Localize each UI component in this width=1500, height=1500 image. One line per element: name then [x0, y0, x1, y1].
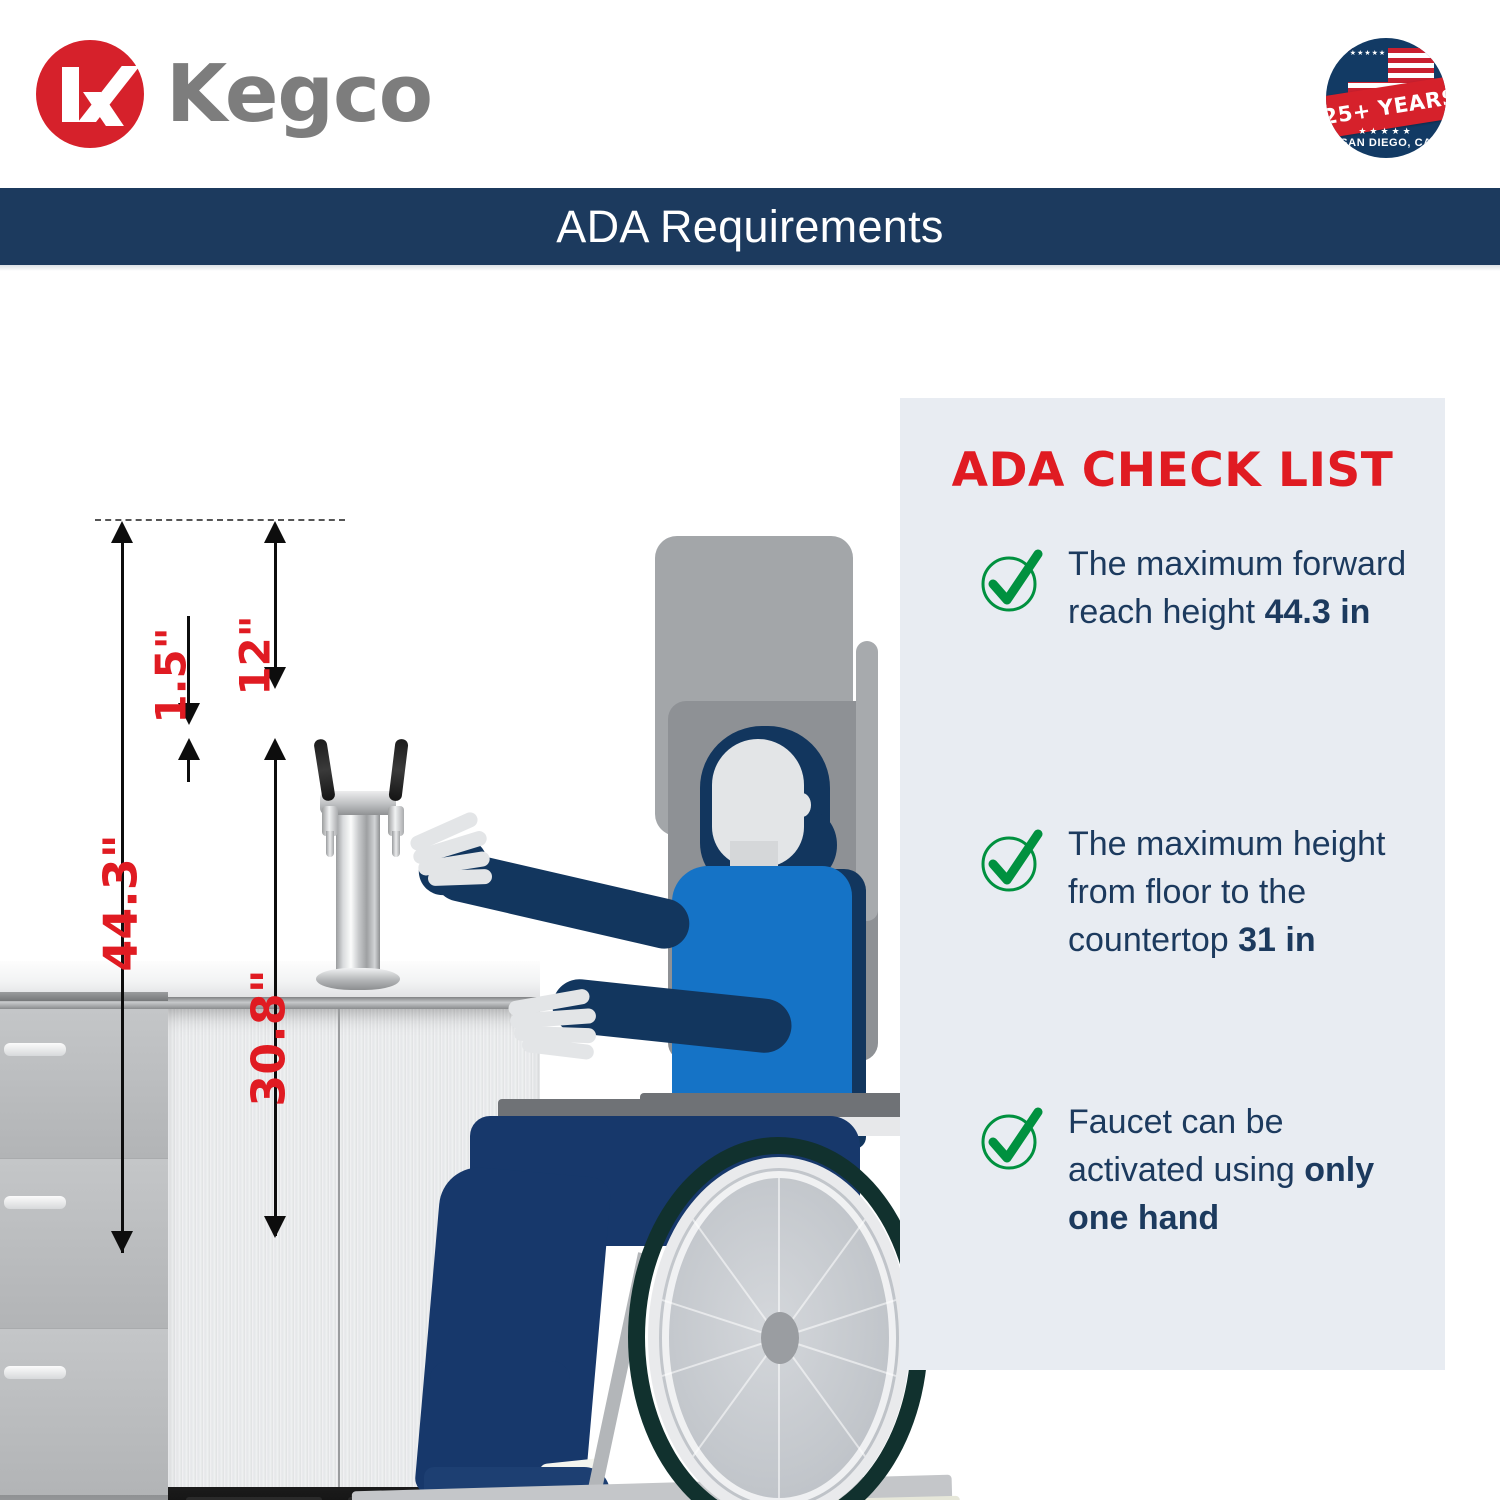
- person-ear: [793, 793, 811, 817]
- checklist-item-value: 31 in: [1238, 921, 1315, 959]
- checklist-item-text: Faucet can be activated using only one h…: [1068, 1098, 1418, 1242]
- wheelchair-armrest: [640, 1093, 930, 1117]
- cabinet-drawer: [0, 1328, 168, 1495]
- person-hand-on-counter: [508, 989, 608, 1055]
- checklist-item: The maximum forward reach height 44.3 in: [978, 540, 1418, 636]
- draft-beer-tower: [336, 808, 380, 983]
- checklist-item-body: Faucet can be activated using: [1068, 1103, 1304, 1189]
- badge-city-label: SAN DIEGO, CA: [1326, 137, 1446, 149]
- cabinet-drawer: [0, 1158, 168, 1328]
- check-circle-icon: [978, 548, 1044, 614]
- ada-checklist-panel: ADA CHECK LIST The maximum forward reach…: [900, 398, 1445, 1370]
- tower-base-flange: [316, 968, 400, 990]
- drawer-handle[interactable]: [4, 1366, 66, 1379]
- page-title: ADA Requirements: [556, 201, 943, 253]
- tap-handle-right-icon[interactable]: [388, 738, 408, 801]
- dim-line-1_5b: [187, 756, 190, 782]
- dim-arrow-down: [264, 1216, 286, 1238]
- drawer-handle[interactable]: [4, 1196, 66, 1209]
- checklist-item: Faucet can be activated using only one h…: [978, 1098, 1418, 1242]
- dimension-label-tower: 12": [231, 615, 280, 695]
- checklist-item-body: The maximum height from floor to the cou…: [1068, 825, 1385, 959]
- tap-spout-right: [392, 831, 400, 857]
- drawer-handle[interactable]: [4, 1043, 66, 1056]
- page-title-banner: ADA Requirements: [0, 188, 1500, 265]
- badge-stars: ★★★★★: [1326, 126, 1446, 137]
- brand-wordmark: Kegco: [166, 55, 432, 134]
- checklist-item-value: 44.3 in: [1265, 593, 1371, 631]
- checklist-item: The maximum height from floor to the cou…: [978, 820, 1418, 964]
- kegerator-door-seam: [338, 1007, 340, 1495]
- cabinet-drawer: [0, 1008, 168, 1158]
- brand-logo[interactable]: Kegco: [36, 40, 432, 148]
- dimension-label-reach: 44.3": [94, 834, 148, 971]
- tap-handle-left-icon[interactable]: [313, 738, 336, 801]
- wheelchair-hub: [761, 1312, 799, 1364]
- page-header: Kegco ★★★★★ 25+ YEARS ★★★★★ SAN DIEGO, C…: [0, 0, 1500, 188]
- tap-spout-left: [326, 831, 334, 857]
- ada-kegerator-diagram: 44.3" 1.5" 12" 30.8": [0, 271, 1500, 1500]
- anniversary-badge: ★★★★★ 25+ YEARS ★★★★★ SAN DIEGO, CA: [1322, 34, 1450, 162]
- dim-arrow-down: [111, 1231, 133, 1253]
- checklist-title: ADA CHECK LIST: [900, 443, 1445, 498]
- flag-canton-stars: ★★★★★: [1348, 48, 1388, 82]
- check-circle-icon: [978, 828, 1044, 894]
- person-hand-reaching: [408, 814, 500, 886]
- check-circle-icon: [978, 1106, 1044, 1172]
- checklist-item-text: The maximum forward reach height 44.3 in: [1068, 540, 1418, 636]
- countertop-edge-left: [0, 992, 168, 1001]
- checklist-item-text: The maximum height from floor to the cou…: [1068, 820, 1418, 964]
- kegco-k-logo-icon: [36, 40, 144, 148]
- dimension-label-counter: 30.8": [242, 969, 296, 1106]
- dimension-label-clearance: 1.5": [147, 627, 196, 723]
- cabinet-plinth: [0, 1495, 168, 1500]
